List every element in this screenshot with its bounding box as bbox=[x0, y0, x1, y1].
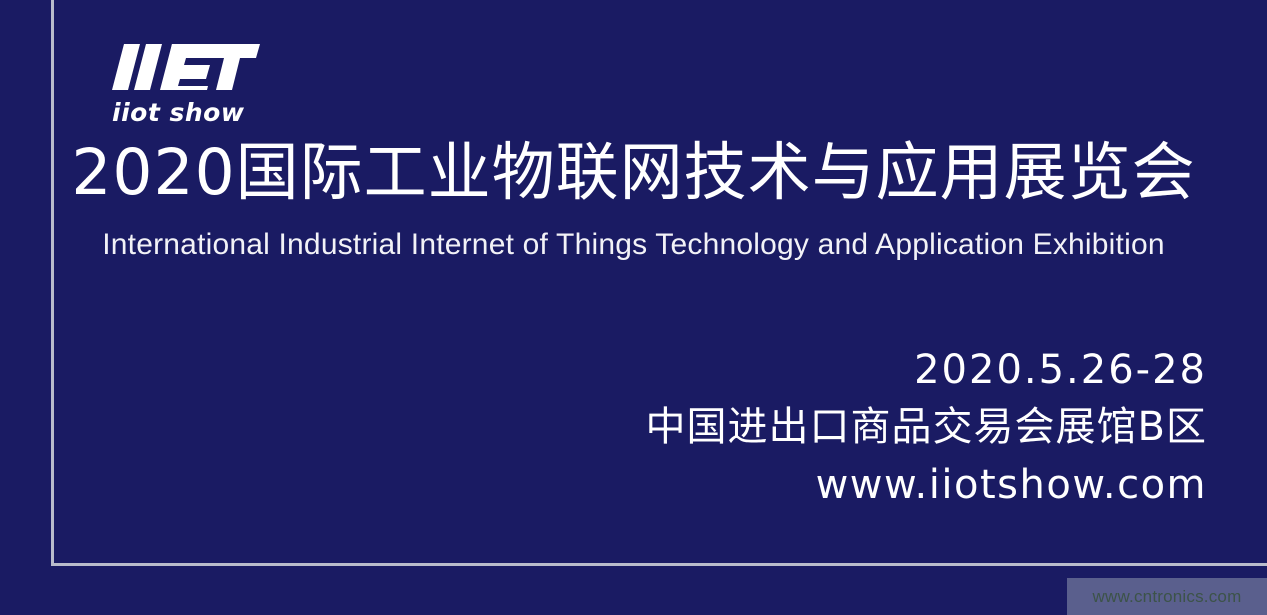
frame-vertical-line bbox=[51, 0, 54, 566]
brand-logo: iiot show bbox=[110, 38, 370, 133]
watermark-badge: www.cntronics.com bbox=[1067, 578, 1267, 615]
event-info-block: 2020.5.26-28 中国进出口商品交易会展馆B区 www.iiotshow… bbox=[646, 345, 1207, 511]
frame-horizontal-line bbox=[51, 563, 1267, 566]
poster-canvas: iiot show 2020国际工业物联网技术与应用展览会 Internatio… bbox=[0, 0, 1267, 615]
iiot-logo-icon bbox=[110, 38, 260, 96]
page-title-chinese: 2020国际工业物联网技术与应用展览会 bbox=[0, 140, 1267, 206]
watermark-text: www.cntronics.com bbox=[1093, 587, 1242, 607]
event-venue: 中国进出口商品交易会展馆B区 bbox=[646, 401, 1207, 453]
event-date: 2020.5.26-28 bbox=[646, 345, 1207, 395]
event-website[interactable]: www.iiotshow.com bbox=[646, 459, 1207, 511]
logo-subtext: iiot show bbox=[112, 98, 244, 127]
page-subtitle-english: International Industrial Internet of Thi… bbox=[0, 228, 1267, 262]
